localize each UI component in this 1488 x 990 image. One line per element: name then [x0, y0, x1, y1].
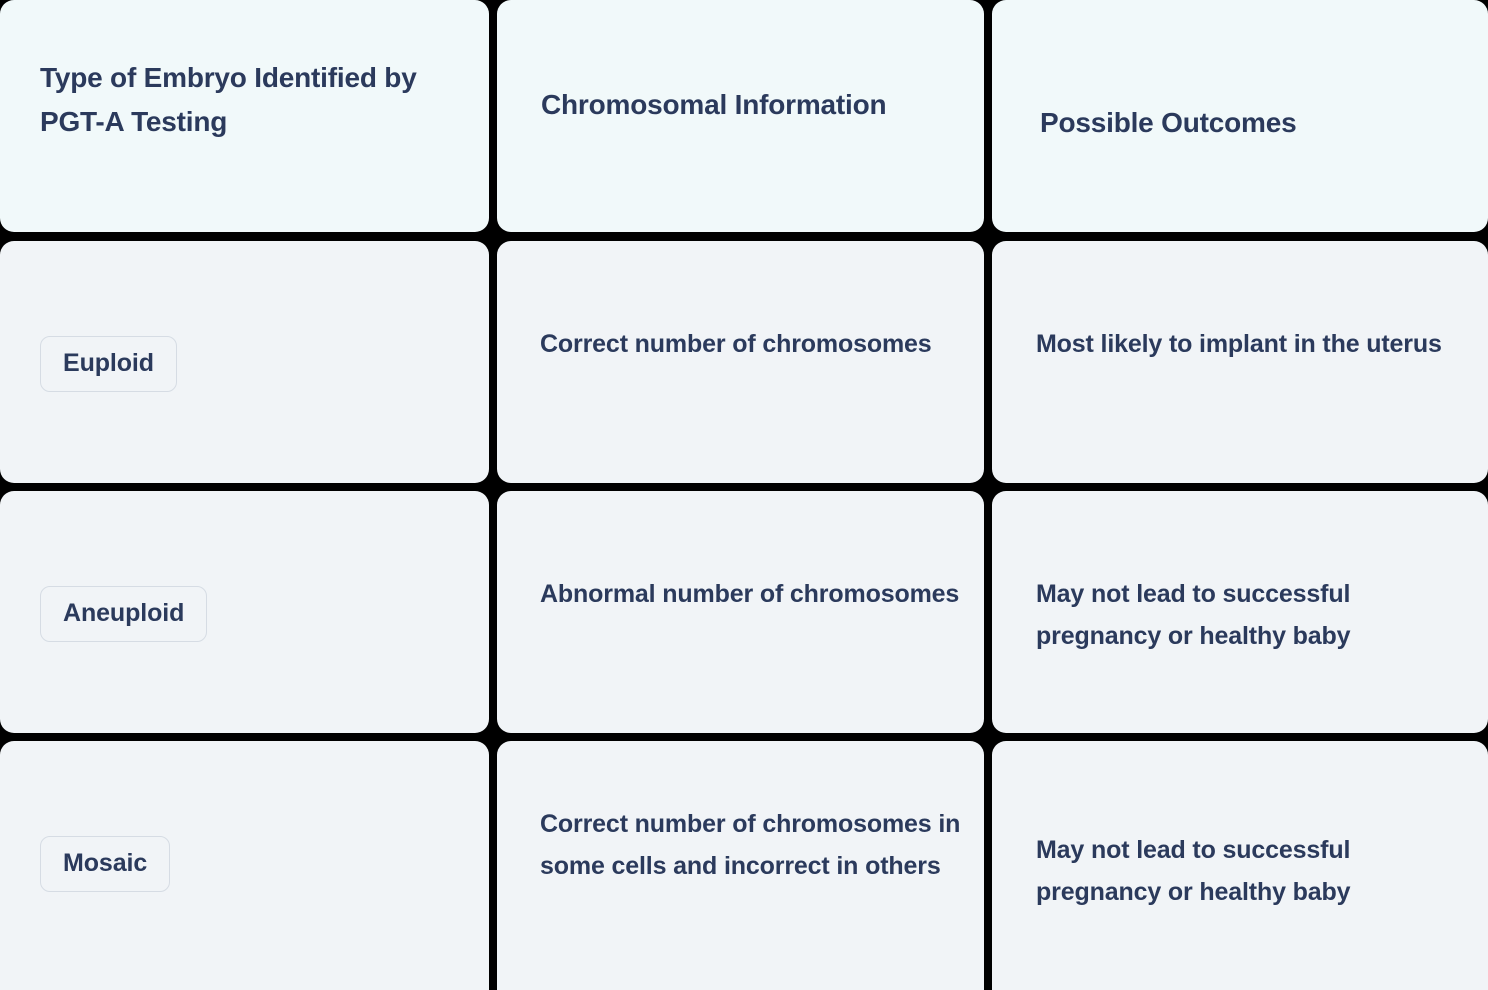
cell-text: Correct number of chromosomes in some ce…: [540, 803, 970, 887]
table-header-cell-chromosomal-information: Chromosomal Information: [497, 0, 992, 241]
table-row: Aneuploid: [0, 491, 497, 741]
embryo-type-badge-euploid[interactable]: Euploid: [40, 336, 177, 392]
table-grid: Type of Embryo Identified by PGT-A Testi…: [0, 0, 1488, 990]
table-row: Mosaic: [0, 741, 497, 990]
column-header-label: Chromosomal Information: [541, 83, 941, 127]
table-header-cell-embryo-type: Type of Embryo Identified by PGT-A Testi…: [0, 0, 497, 241]
table-cell-chromosomal-information: Correct number of chromosomes: [497, 241, 992, 491]
column-header-label: Type of Embryo Identified by PGT-A Testi…: [40, 56, 450, 144]
comparison-table: Type of Embryo Identified by PGT-A Testi…: [0, 0, 1488, 990]
table-cell-possible-outcomes: May not lead to successful pregnancy or …: [992, 741, 1488, 990]
embryo-type-badge-mosaic[interactable]: Mosaic: [40, 836, 170, 892]
cell-text: Most likely to implant in the uterus: [1036, 323, 1456, 365]
cell-text: Abnormal number of chromosomes: [540, 573, 960, 615]
table-header-cell-possible-outcomes: Possible Outcomes: [992, 0, 1488, 241]
table-row: Euploid: [0, 241, 497, 491]
cell-text: Correct number of chromosomes: [540, 323, 960, 365]
table-cell-possible-outcomes: Most likely to implant in the uterus: [992, 241, 1488, 491]
cell-text: May not lead to successful pregnancy or …: [1036, 829, 1466, 913]
cell-text: May not lead to successful pregnancy or …: [1036, 573, 1466, 657]
embryo-type-badge-aneuploid[interactable]: Aneuploid: [40, 586, 207, 642]
column-header-label: Possible Outcomes: [1040, 101, 1440, 145]
table-cell-chromosomal-information: Abnormal number of chromosomes: [497, 491, 992, 741]
table-cell-chromosomal-information: Correct number of chromosomes in some ce…: [497, 741, 992, 990]
table-cell-possible-outcomes: May not lead to successful pregnancy or …: [992, 491, 1488, 741]
